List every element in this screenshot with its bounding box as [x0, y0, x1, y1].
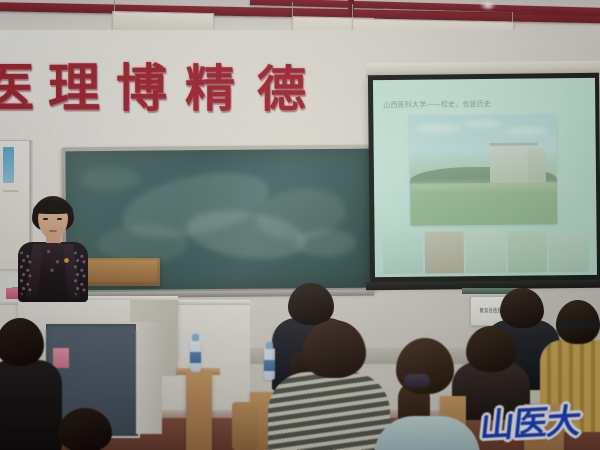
- bottle-cap: [192, 334, 199, 341]
- slogan-char-3: 博: [116, 64, 167, 115]
- lecture-hall-photo: 医 理 博 精 德 山西医科大学——校史，也是历史: [0, 0, 600, 450]
- audience-member-left-body: [0, 360, 62, 450]
- speaker-sleeve-right: [72, 250, 88, 296]
- audience-member-striped-head: [302, 320, 366, 378]
- slogan-char-4: 精: [185, 64, 235, 114]
- watermark-text: 山医大: [478, 393, 583, 447]
- wall-slogan: 医 理 博 精 德: [0, 58, 386, 120]
- audience-member-suit-head: [288, 283, 334, 325]
- speaker-eye: [57, 218, 62, 220]
- watermark: 山医大: [466, 396, 594, 444]
- speaker-lecturer: [16, 196, 90, 302]
- slogan-char-2: 理: [48, 63, 100, 115]
- bottle-cap: [266, 342, 273, 349]
- slide-color-wash: [373, 78, 597, 277]
- speaker-eye: [43, 218, 48, 220]
- chair: [232, 402, 258, 450]
- podium-column: [136, 322, 162, 434]
- student-desk: [186, 372, 212, 450]
- audience-member-shorthair-head: [500, 288, 544, 328]
- speaker-sleeve-left: [18, 250, 34, 296]
- speaker-lapel-pin: [64, 258, 69, 263]
- eyeglasses: [556, 320, 600, 329]
- ceiling-light: [480, 2, 496, 9]
- poster-blue-band: [3, 147, 14, 183]
- audience-member-darkhair-head: [466, 326, 516, 372]
- bottle-label: [264, 360, 275, 371]
- bottle-label: [190, 352, 201, 363]
- poster-line: [3, 190, 19, 192]
- audience-member-striped-body: [268, 372, 390, 450]
- slogan-char-1: 医: [0, 63, 34, 115]
- speaker-scarf: [42, 243, 64, 277]
- speaker-mouth: [49, 230, 57, 232]
- pink-paper: [53, 348, 69, 368]
- projection-screen: 山西医科大学——校史，也是历史: [368, 73, 600, 284]
- audience-member-front-head: [58, 408, 112, 450]
- presentation-slide: 山西医科大学——校史，也是历史: [373, 78, 597, 277]
- hair-scrunchie: [404, 374, 430, 388]
- slogan-char-5: 德: [257, 65, 306, 114]
